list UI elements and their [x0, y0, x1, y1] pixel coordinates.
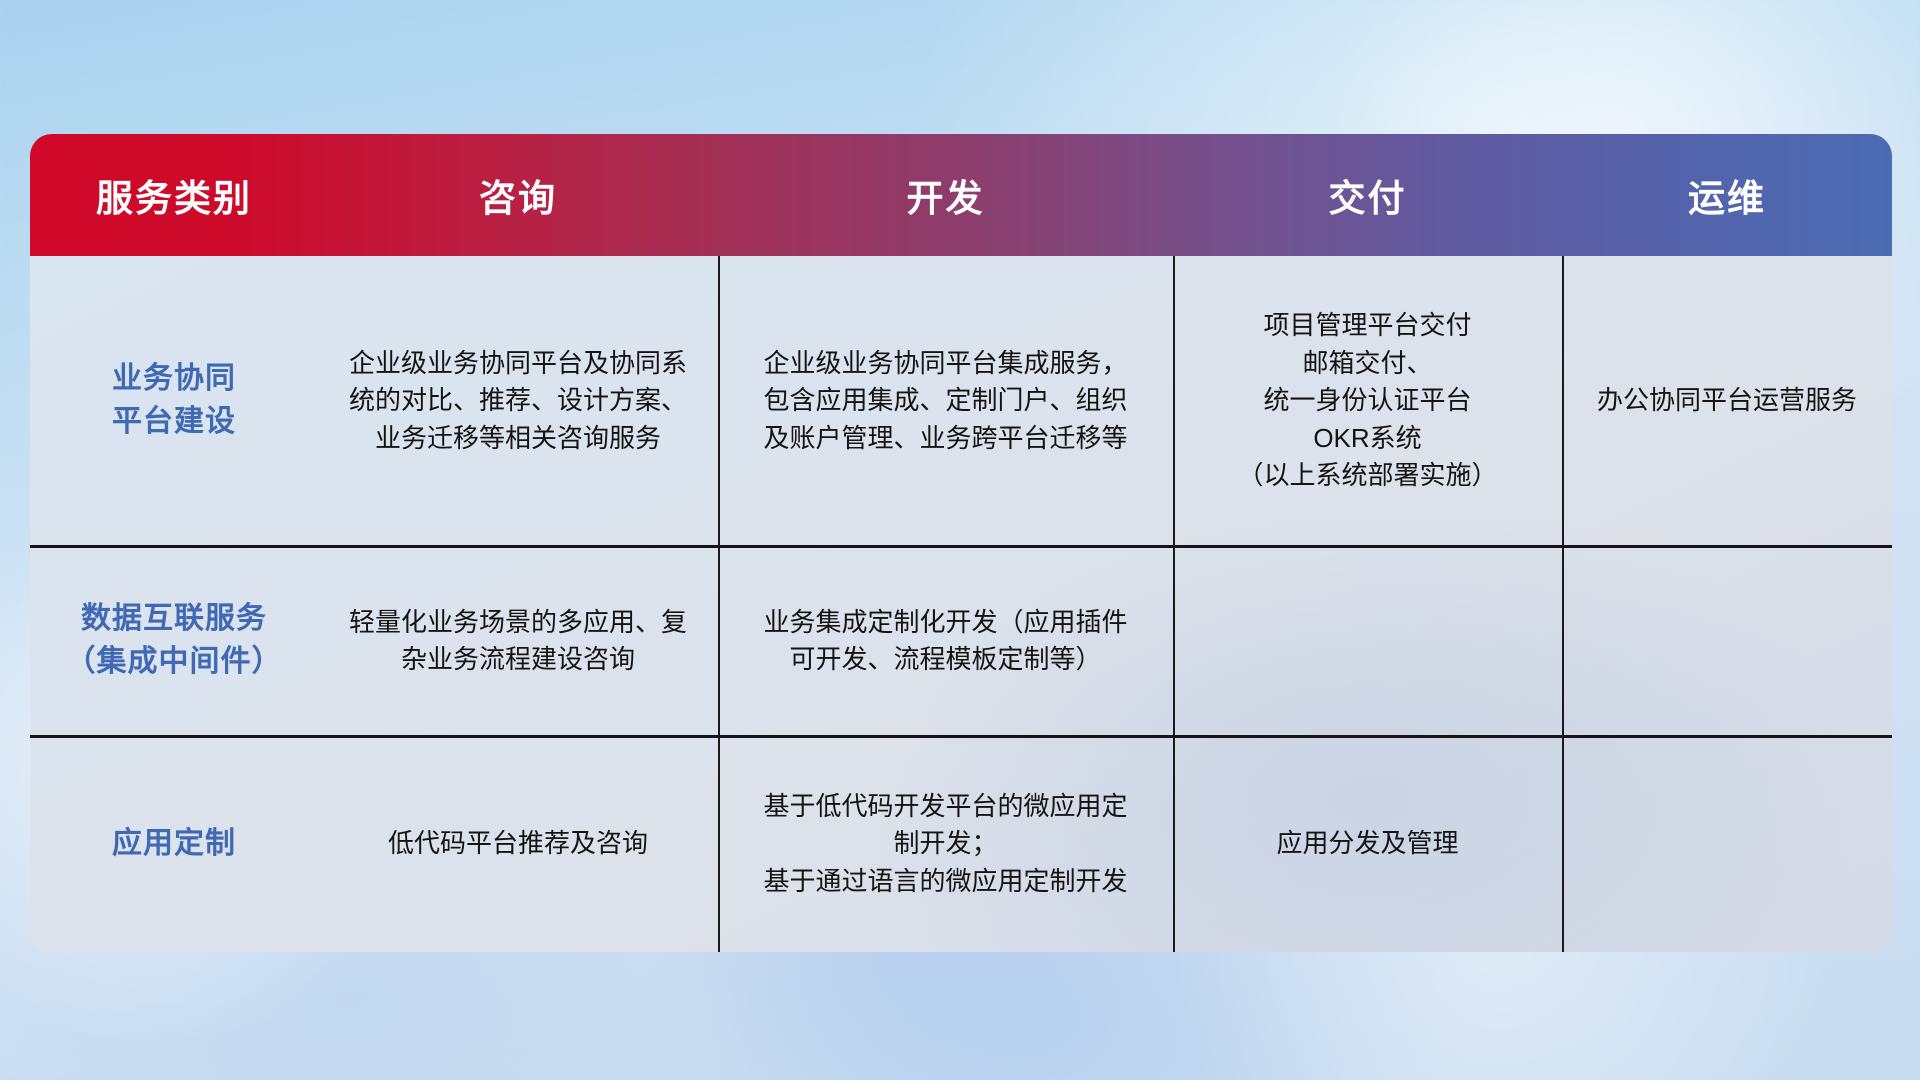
table-row: 业务协同 平台建设 企业级业务协同平台及协同系 统的对比、推荐、设计方案、 业务…	[30, 256, 1892, 546]
header-cell-service-category: 服务类别	[30, 168, 318, 222]
row-1-delivery: 项目管理平台交付 邮箱交付、 统一身份认证平台 OKR系统 （以上系统部署实施）	[1173, 256, 1562, 546]
row-2-delivery	[1173, 546, 1562, 736]
row-3-category: 应用定制	[30, 736, 318, 952]
table-header-row: 服务类别 咨询 开发 交付 运维	[30, 134, 1892, 256]
row-2-development: 业务集成定制化开发（应用插件 可开发、流程模板定制等）	[718, 546, 1173, 736]
row-3-operations	[1562, 736, 1892, 952]
row-3-development: 基于低代码开发平台的微应用定 制开发； 基于通过语言的微应用定制开发	[718, 736, 1173, 952]
header-cell-delivery: 交付	[1173, 168, 1562, 222]
row-2-category: 数据互联服务 （集成中间件）	[30, 546, 318, 736]
row-3-delivery: 应用分发及管理	[1173, 736, 1562, 952]
row-2-consulting: 轻量化业务场景的多应用、复 杂业务流程建设咨询	[318, 546, 718, 736]
header-cell-consulting: 咨询	[318, 168, 718, 222]
row-1-consulting: 企业级业务协同平台及协同系 统的对比、推荐、设计方案、 业务迁移等相关咨询服务	[318, 256, 718, 546]
row-1-operations: 办公协同平台运营服务	[1562, 256, 1892, 546]
header-cell-development: 开发	[718, 168, 1173, 222]
row-2-operations	[1562, 546, 1892, 736]
table-row: 数据互联服务 （集成中间件） 轻量化业务场景的多应用、复 杂业务流程建设咨询 业…	[30, 546, 1892, 736]
service-matrix-table: 服务类别 咨询 开发 交付 运维 业务协同 平台建设 企业级业务协同平台及协同系…	[30, 134, 1892, 952]
row-1-category: 业务协同 平台建设	[30, 256, 318, 546]
header-cell-operations: 运维	[1562, 168, 1892, 222]
table-row: 应用定制 低代码平台推荐及咨询 基于低代码开发平台的微应用定 制开发； 基于通过…	[30, 736, 1892, 952]
table-body: 业务协同 平台建设 企业级业务协同平台及协同系 统的对比、推荐、设计方案、 业务…	[30, 256, 1892, 952]
row-1-development: 企业级业务协同平台集成服务， 包含应用集成、定制门户、组织 及账户管理、业务跨平…	[718, 256, 1173, 546]
row-3-consulting: 低代码平台推荐及咨询	[318, 736, 718, 952]
